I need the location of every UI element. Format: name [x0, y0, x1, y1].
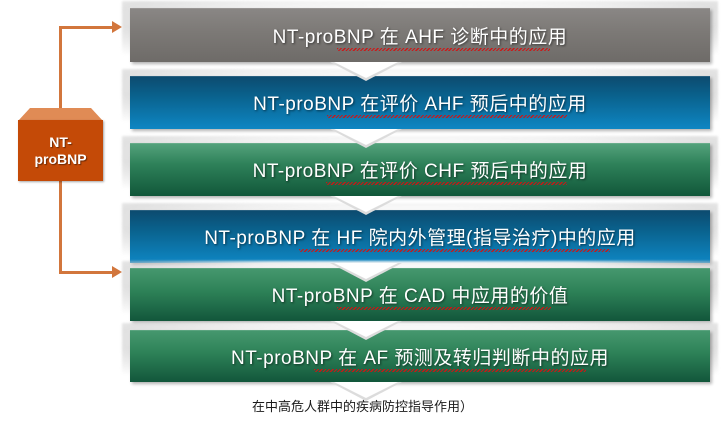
chevron-bar-5[interactable]: NT-proBNP 在 CAD 中应用的价值: [130, 268, 710, 321]
bar-6-label: NT-proBNP 在 AF 预测及转归判断中的应用: [231, 343, 609, 370]
bar-3-label: NT-proBNP 在评价 CHF 预后中的应用: [253, 156, 588, 183]
arrow-to-first-bar-icon: [112, 21, 122, 33]
chevron-divider-3: [330, 196, 402, 215]
chevron-divider-2: [330, 129, 402, 148]
chevron-divider-5: [330, 321, 402, 340]
bar-2-label: NT-proBNP 在评价 AHF 预后中的应用: [253, 89, 587, 116]
diagram-canvas: NT- proBNP NT-proBNP 在 AHF 诊断中的应用 NT-pro…: [0, 0, 725, 424]
chevron-divider-4: [330, 263, 402, 282]
chevron-divider-1: [330, 62, 402, 81]
chevron-bar-3[interactable]: NT-proBNP 在评价 CHF 预后中的应用: [130, 143, 710, 196]
arrow-to-fifth-bar-icon: [112, 266, 122, 278]
chevron-bar-4[interactable]: NT-proBNP 在 HF 院内外管理(指导治疗)中的应用: [130, 210, 710, 263]
chevron-divider-6: [330, 382, 402, 401]
connector-top-vertical: [59, 26, 62, 110]
chevron-bar-1[interactable]: NT-proBNP 在 AHF 诊断中的应用: [130, 8, 710, 62]
connector-top-horizontal: [59, 26, 115, 29]
bar-4-label: NT-proBNP 在 HF 院内外管理(指导治疗)中的应用: [204, 223, 636, 250]
connector-bottom-vertical: [59, 180, 62, 274]
chevron-bar-6[interactable]: NT-proBNP 在 AF 预测及转归判断中的应用: [130, 330, 710, 382]
source-box[interactable]: NT- proBNP: [14, 108, 107, 181]
bar-1-label: NT-proBNP 在 AHF 诊断中的应用: [273, 22, 568, 49]
connector-bottom-horizontal: [59, 271, 115, 274]
bar-5-label: NT-proBNP 在 CAD 中应用的价值: [272, 281, 569, 308]
chevron-bar-2[interactable]: NT-proBNP 在评价 AHF 预后中的应用: [130, 76, 710, 129]
source-box-label: NT- proBNP: [18, 120, 103, 181]
